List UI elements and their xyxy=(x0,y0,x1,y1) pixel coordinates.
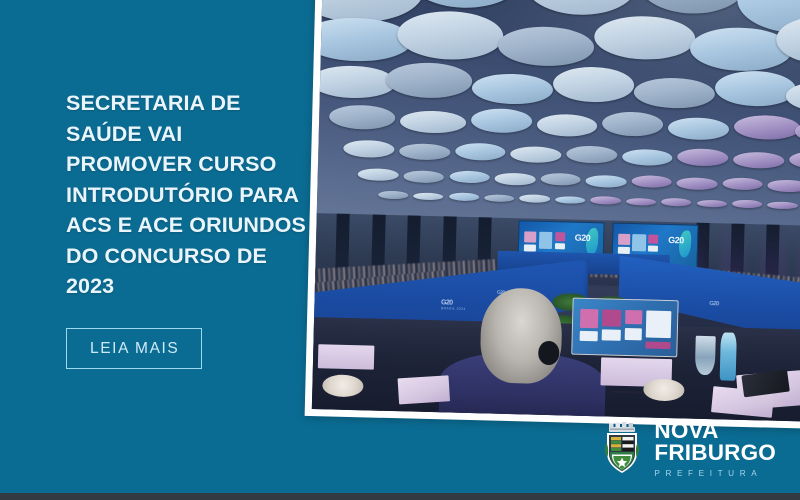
delegate-screen xyxy=(571,298,679,357)
ceiling-panel xyxy=(378,190,409,199)
ceiling-panel xyxy=(519,194,550,203)
ceiling-panel xyxy=(732,199,763,208)
brand-line-1: NOVA xyxy=(654,420,776,442)
article-photo-frame: G20 G20 xyxy=(305,0,800,429)
ceiling-panel xyxy=(449,192,480,201)
led-g20-label: G20 xyxy=(668,235,684,245)
read-more-button[interactable]: LEIA MAIS xyxy=(66,328,202,370)
article-text-column: SECRETARIA DE SAÚDE VAI PROMOVER CURSO I… xyxy=(66,88,306,369)
table-g20-label: G20BRASIL 2024 xyxy=(441,299,466,311)
plate xyxy=(322,374,363,397)
brand-line-2: FRIBURGO xyxy=(654,442,776,464)
brand-wordmark: NOVA FRIBURGO PREFEITURA xyxy=(654,419,776,478)
name-placard xyxy=(318,344,374,369)
documents xyxy=(398,375,450,404)
page-title: SECRETARIA DE SAÚDE VAI PROMOVER CURSO I… xyxy=(66,88,306,302)
ceiling-panel xyxy=(590,196,621,205)
news-banner: G20 G20 xyxy=(0,0,800,500)
ceiling-panel xyxy=(495,173,536,185)
bottom-accent-bar xyxy=(0,493,800,500)
ceiling-panel xyxy=(661,198,692,207)
ceiling-panel xyxy=(677,178,718,190)
ceiling-panel xyxy=(586,175,627,187)
brand-logo[interactable]: NOVA FRIBURGO PREFEITURA xyxy=(601,419,776,478)
led-g20-label: G20 xyxy=(575,232,591,242)
brand-line-3: PREFEITURA xyxy=(654,470,776,478)
article-photo: G20 G20 xyxy=(312,0,800,422)
ceiling-panel xyxy=(510,146,561,163)
ceiling-panel xyxy=(404,171,445,183)
coat-of-arms-icon xyxy=(601,421,643,475)
delegate-head xyxy=(479,287,562,385)
table-g20-label: G20 xyxy=(709,301,719,307)
plate xyxy=(644,378,685,401)
water-bottle xyxy=(720,332,736,380)
